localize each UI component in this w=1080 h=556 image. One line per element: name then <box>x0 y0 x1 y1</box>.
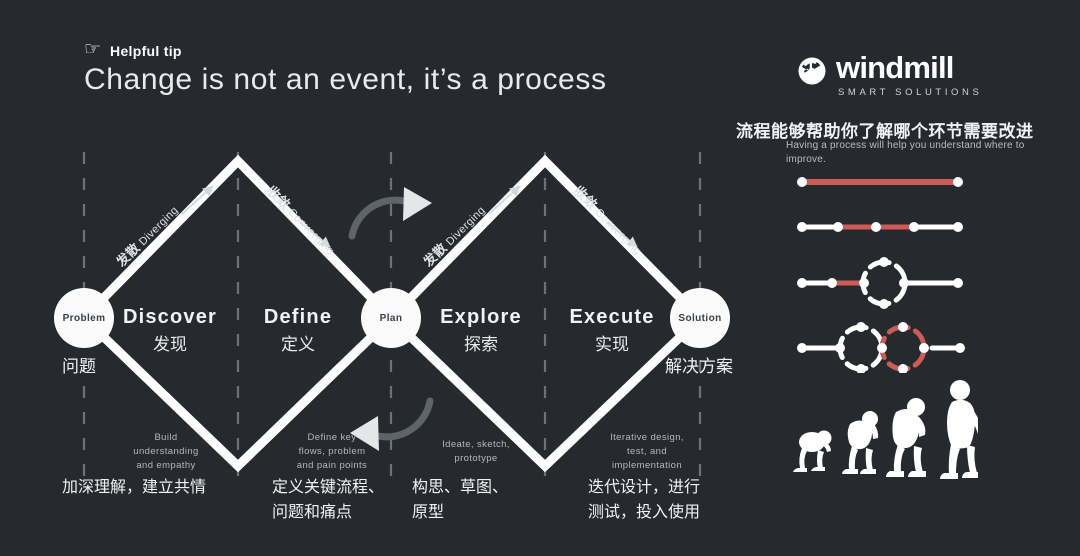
process-complexity-illustration <box>780 168 980 373</box>
stage-cn-discover: 发现 <box>110 330 230 355</box>
caption-cn-discover: 加深理解，建立共情 <box>62 476 262 501</box>
evolution-figure-human <box>940 380 978 479</box>
stage-cn-explore: 探索 <box>421 330 541 355</box>
evolution-figure-hunched-hominid <box>842 411 878 474</box>
stage-en-execute: Execute <box>552 306 672 329</box>
caption-en-discover: Build understanding and empathy <box>96 431 236 472</box>
process-row-4 <box>797 322 965 373</box>
caption-en-explore: Ideate, sketch, prototype <box>406 438 546 466</box>
caption-cn-explore: 构思、草图、 原型 <box>412 476 612 526</box>
process-row-2 <box>797 222 963 232</box>
caption-en-define: Define key flows, problem and pain point… <box>262 431 402 472</box>
caption-en-execute: Iterative design, test, and implementati… <box>572 431 722 472</box>
stage-en-define: Define <box>238 306 358 329</box>
stage-en-explore: Explore <box>421 306 541 329</box>
process-row-3 <box>797 257 963 309</box>
evolution-figure-ape <box>793 431 832 473</box>
node-label-solution: Solution <box>660 313 740 324</box>
caption-cn-execute: 迭代设计，进行 测试，投入使用 <box>588 476 798 526</box>
node-label-plan: Plan <box>351 313 431 324</box>
node-cn-solution: 解决方案 <box>665 352 733 377</box>
evolution-silhouettes <box>782 372 978 484</box>
process-row-1 <box>797 177 963 187</box>
evolution-figure-upright-hominid <box>886 398 926 477</box>
stage-cn-define: 定义 <box>238 330 358 355</box>
node-cn-problem: 问题 <box>62 352 96 377</box>
stage-en-discover: Discover <box>110 306 230 329</box>
stage-cn-execute: 实现 <box>552 330 672 355</box>
slide-canvas: ☞ Helpful tip Change is not an event, it… <box>0 0 1080 556</box>
